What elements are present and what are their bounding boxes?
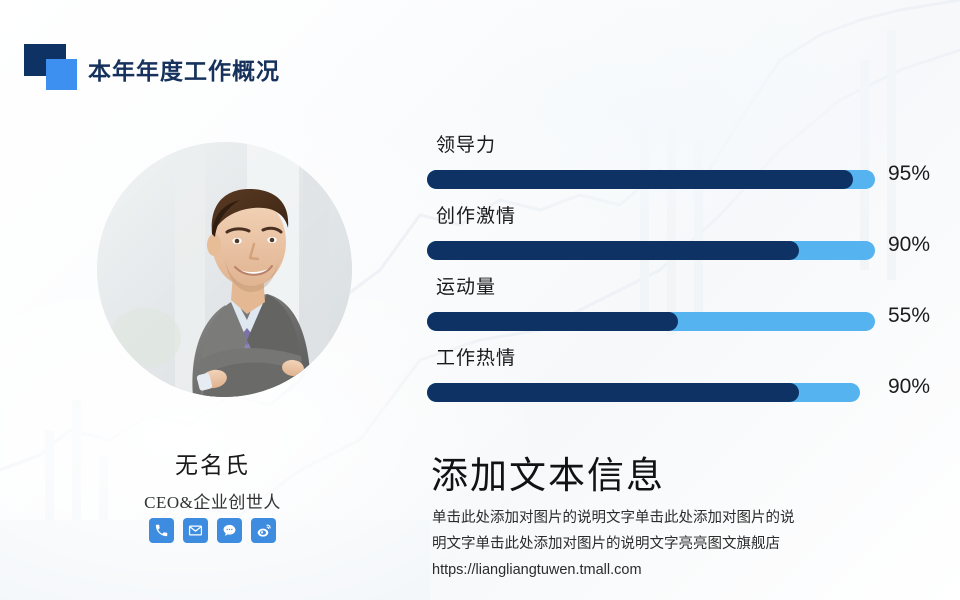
text-body: 单击此处添加对图片的说明文字单击此处添加对图片的说 明文字单击此处添加对图片的说… <box>432 505 902 583</box>
profile-panel: 无名氏 CEO&企业创世人 <box>0 130 425 560</box>
profile-name: 无名氏 <box>0 446 425 480</box>
text-url: https://liangliangtuwen.tmall.com <box>432 557 902 583</box>
skill-row: 工作热情 90% <box>425 343 960 409</box>
skill-track[interactable] <box>427 241 875 260</box>
message-icon[interactable] <box>217 518 242 543</box>
skill-fill <box>427 170 853 189</box>
skill-label: 创作激情 <box>436 201 516 228</box>
text-body-line-1: 单击此处添加对图片的说明文字单击此处添加对图片的说 <box>432 505 902 531</box>
skill-track[interactable] <box>427 170 875 189</box>
skill-percent: 95% <box>888 162 930 186</box>
skill-track[interactable] <box>427 312 875 331</box>
social-links <box>0 518 425 543</box>
skill-row: 创作激情 90% <box>425 201 960 267</box>
logo-mark <box>24 44 88 92</box>
skill-fill <box>427 383 799 402</box>
slide-canvas: 本年年度工作概况 <box>0 0 960 600</box>
skill-fill <box>427 241 799 260</box>
skill-track[interactable] <box>427 383 860 402</box>
email-icon[interactable] <box>183 518 208 543</box>
phone-icon[interactable] <box>149 518 174 543</box>
skill-row: 运动量 55% <box>425 272 960 338</box>
skill-label: 领导力 <box>436 130 496 157</box>
skill-bars: 领导力 95% 创作激情 90% 运动量 55% 工作热情 90% <box>425 130 960 430</box>
logo-square-light-icon <box>46 59 77 90</box>
skill-row: 领导力 95% <box>425 130 960 196</box>
weibo-icon[interactable] <box>251 518 276 543</box>
skill-fill <box>427 312 678 331</box>
skill-percent: 90% <box>888 233 930 257</box>
slide-header: 本年年度工作概况 <box>0 0 960 120</box>
skill-percent: 90% <box>888 375 930 399</box>
text-heading: 添加文本信息 <box>431 445 665 499</box>
page-title: 本年年度工作概况 <box>88 52 280 86</box>
profile-role: CEO&企业创世人 <box>0 488 425 513</box>
avatar <box>97 142 352 397</box>
skill-label: 工作热情 <box>436 343 516 370</box>
skill-percent: 55% <box>888 304 930 328</box>
text-body-line-2: 明文字单击此处添加对图片的说明文字亮亮图文旗舰店 <box>432 531 902 557</box>
skill-label: 运动量 <box>436 272 496 299</box>
